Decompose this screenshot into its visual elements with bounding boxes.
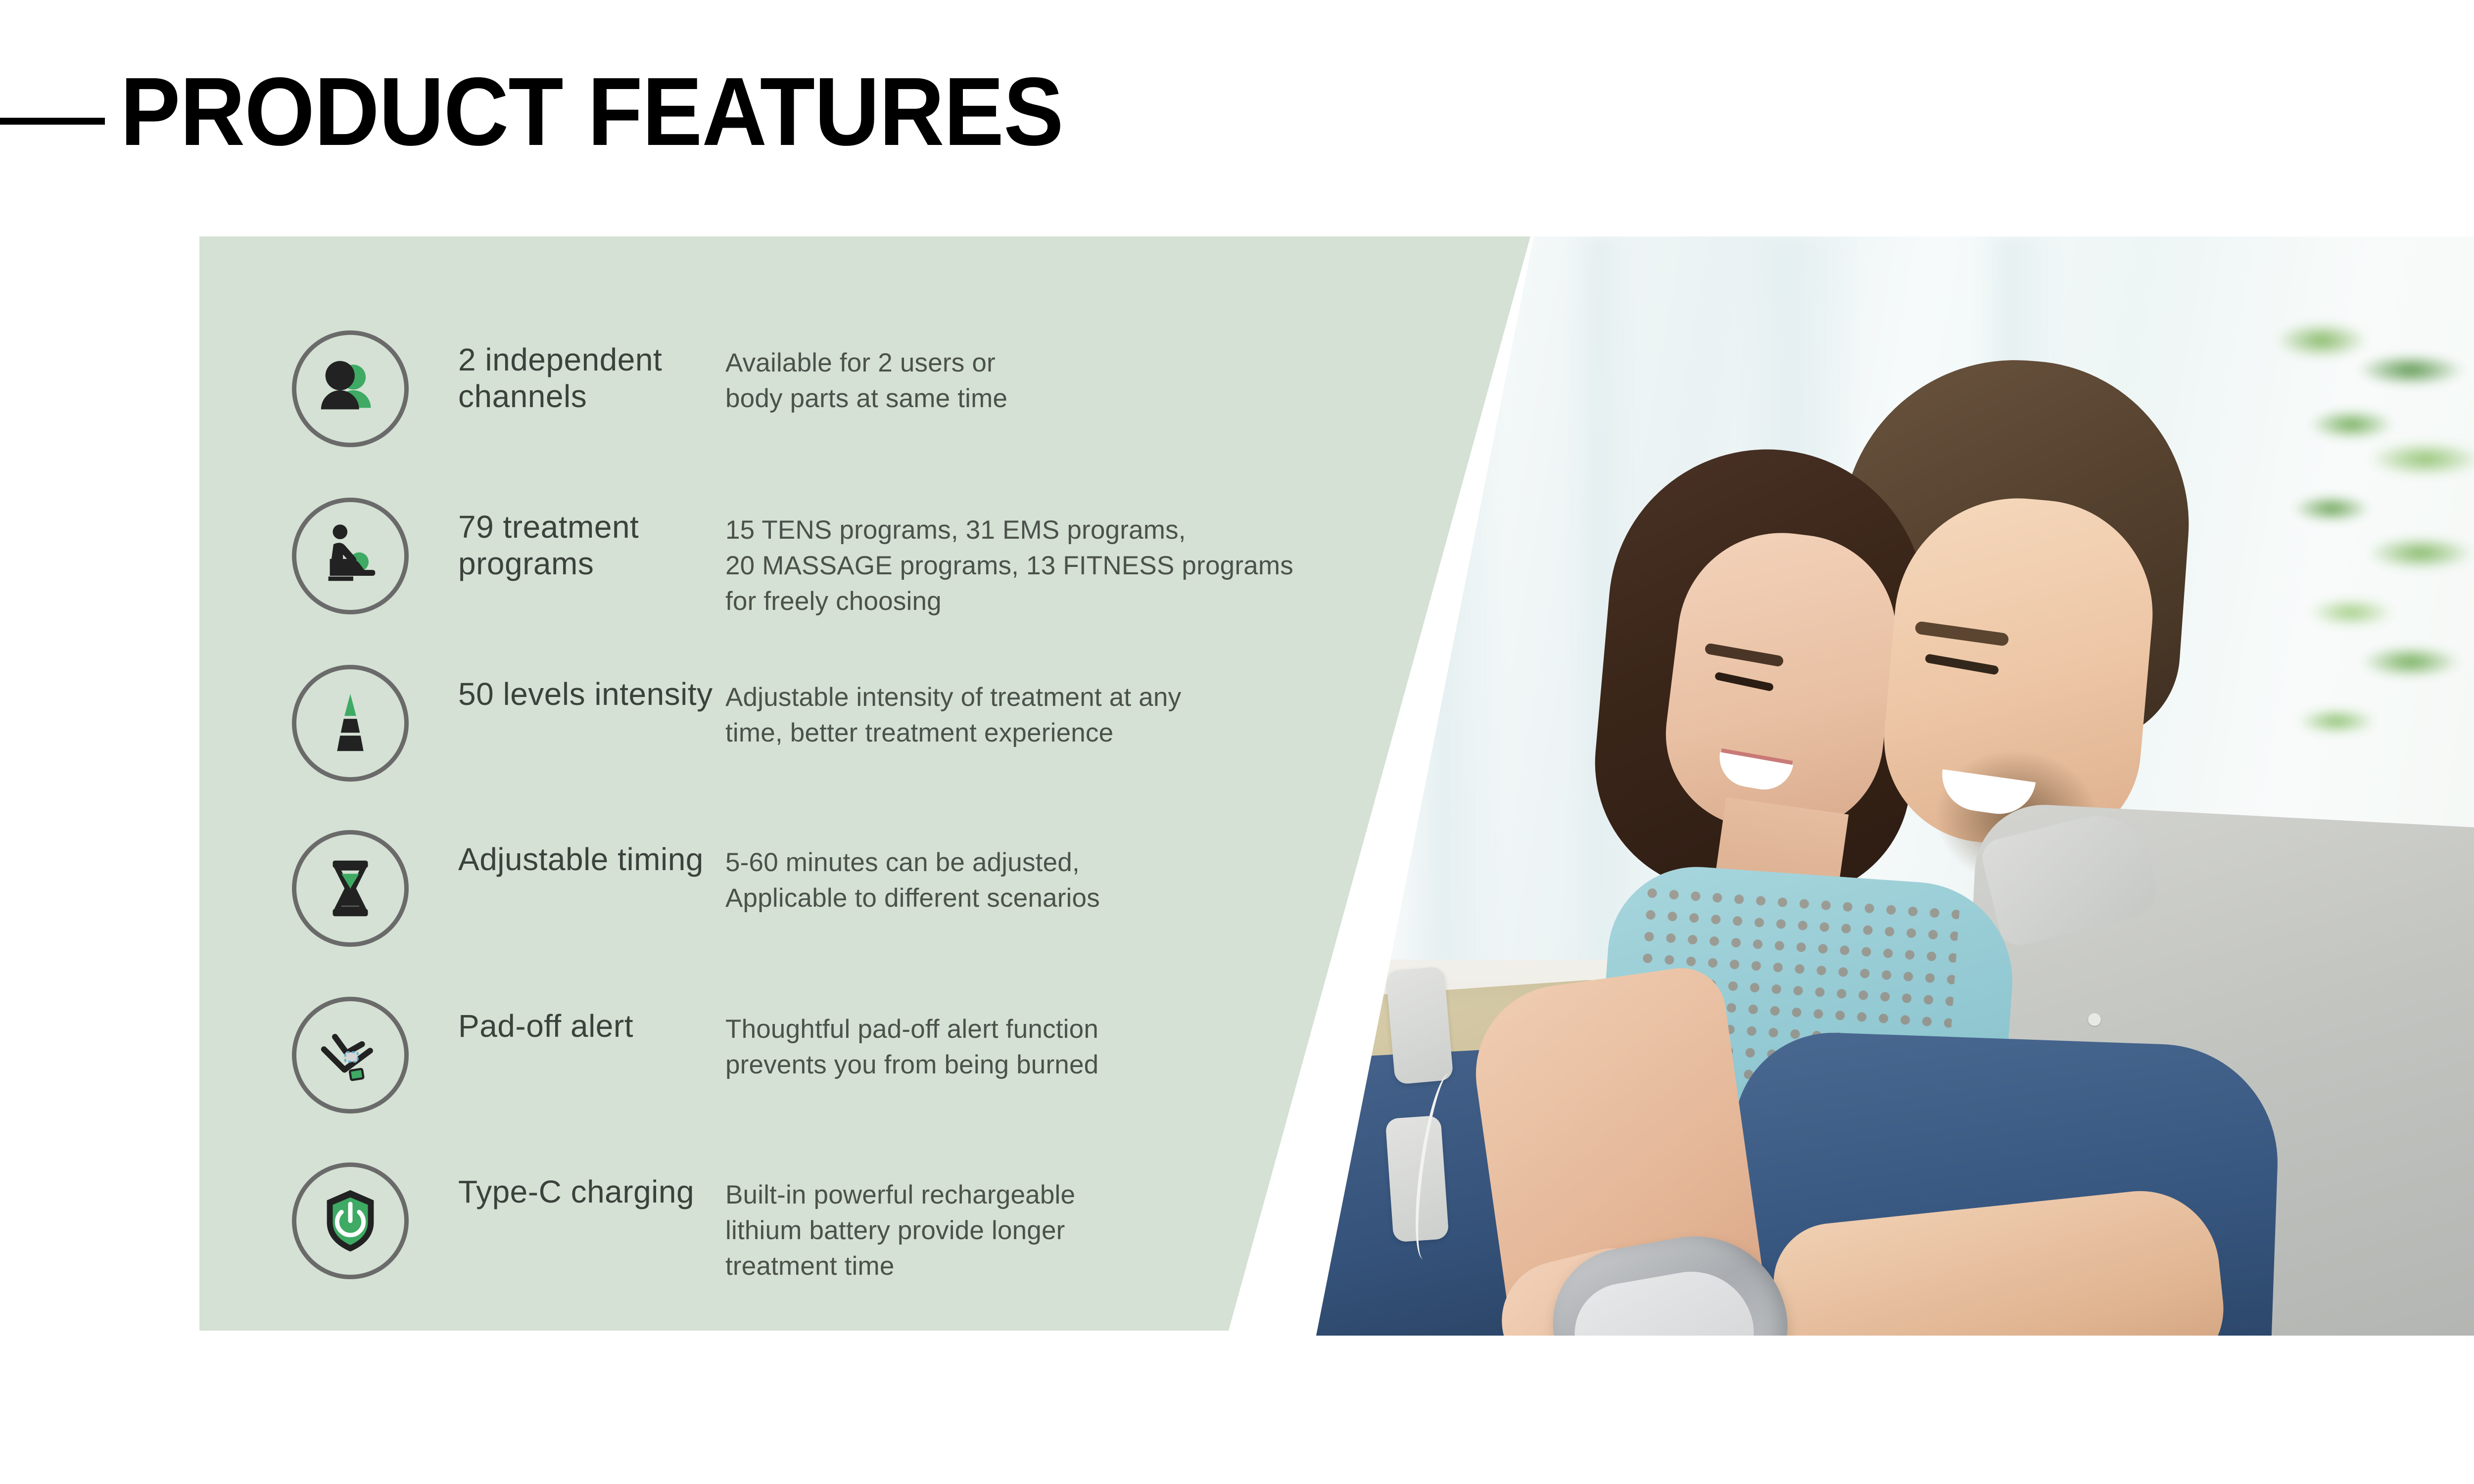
feature-icon-circle: [292, 330, 409, 447]
feature-title: Adjustable timing: [458, 841, 725, 878]
feature-row: Adjustable timing 5-60 minutes can be ad…: [292, 830, 1479, 993]
feature-description: Built-in powerful rechargeable lithium b…: [725, 1177, 1479, 1284]
feature-description: 5-60 minutes can be adjusted, Applicable…: [725, 845, 1479, 916]
shirt-button: [2088, 1013, 2101, 1026]
feature-icon-circle: [292, 830, 409, 947]
two-users-icon: [314, 352, 387, 425]
feature-icon-circle: [292, 665, 409, 782]
page-header: PRODUCT FEATURES: [0, 54, 1484, 173]
shield-power-icon: [314, 1184, 387, 1257]
feature-description: Adjustable intensity of treatment at any…: [725, 680, 1479, 751]
intensity-pyramid-icon: [314, 687, 387, 760]
feature-title: 2 independent channels: [458, 341, 725, 415]
feature-row: 50 levels intensity Adjustable intensity…: [292, 665, 1479, 828]
features-list: 2 independent channels Available for 2 u…: [199, 236, 1535, 1331]
device-face: [1567, 1262, 1761, 1336]
feature-title: Pad-off alert: [458, 1008, 725, 1044]
title-dash-icon: [0, 118, 105, 125]
pad-off-chevrons-icon: [314, 1019, 387, 1092]
feature-icon-circle: [292, 1162, 409, 1279]
feature-title: Type-C charging: [458, 1173, 725, 1210]
hourglass-icon: [314, 852, 387, 925]
slide-canvas: PRODUCT FEATURES: [0, 0, 2474, 1484]
feature-description: Thoughtful pad-off alert function preven…: [725, 1012, 1479, 1083]
feature-row: 2 independent channels Available for 2 u…: [292, 330, 1479, 494]
feature-description: 15 TENS programs, 31 EMS programs, 20 MA…: [725, 512, 1479, 619]
feature-icon-circle: [292, 498, 409, 614]
feature-row: 79 treatment programs 15 TENS programs, …: [292, 498, 1479, 661]
houseplant: [2262, 296, 2474, 880]
feature-row: Type-C charging Built-in powerful rechar…: [292, 1162, 1479, 1326]
feature-description: Available for 2 users or body parts at s…: [725, 345, 1479, 417]
feature-row: Pad-off alert Thoughtful pad-off alert f…: [292, 997, 1479, 1160]
feature-title: 79 treatment programs: [458, 509, 725, 582]
page-title: PRODUCT FEATURES: [120, 54, 1063, 169]
feature-title: 50 levels intensity: [458, 676, 725, 712]
massage-therapy-icon: [314, 519, 387, 593]
feature-icon-circle: [292, 997, 409, 1113]
